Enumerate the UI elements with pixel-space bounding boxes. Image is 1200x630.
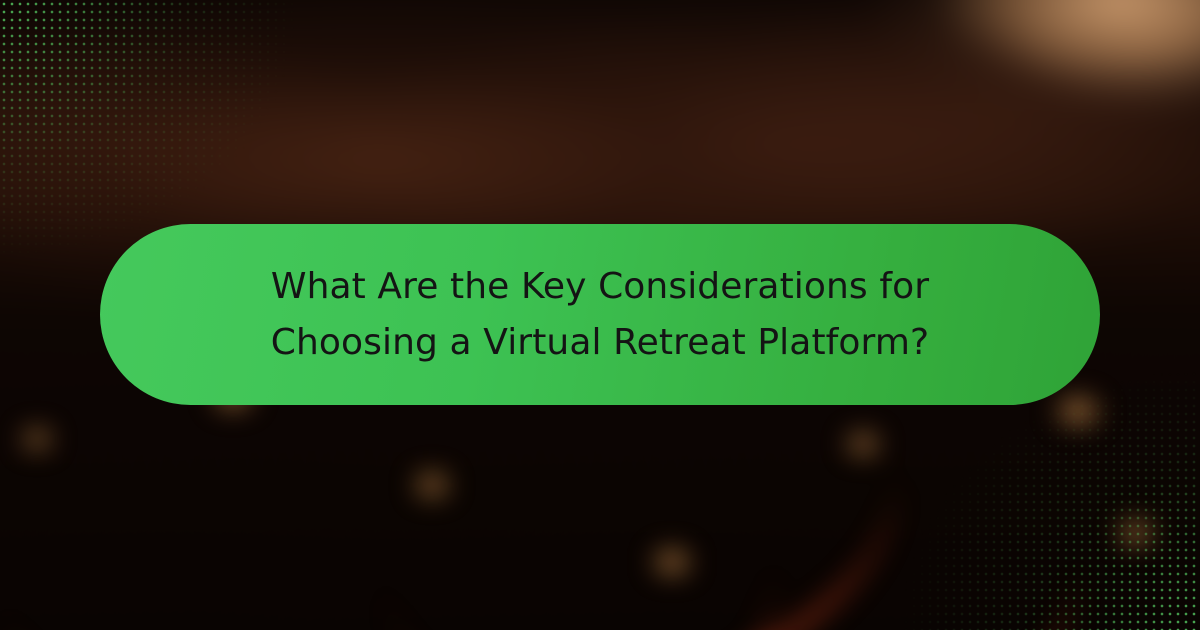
seat-highlight <box>20 428 54 450</box>
headline-line-2: Choosing a Virtual Retreat Platform? <box>271 315 929 371</box>
seat-highlight <box>650 548 694 576</box>
social-share-card: What Are the Key Considerations for Choo… <box>0 0 1200 630</box>
headline-pill: What Are the Key Considerations for Choo… <box>100 224 1100 405</box>
seat-highlight <box>412 472 452 498</box>
headline-line-1: What Are the Key Considerations for <box>271 259 929 315</box>
